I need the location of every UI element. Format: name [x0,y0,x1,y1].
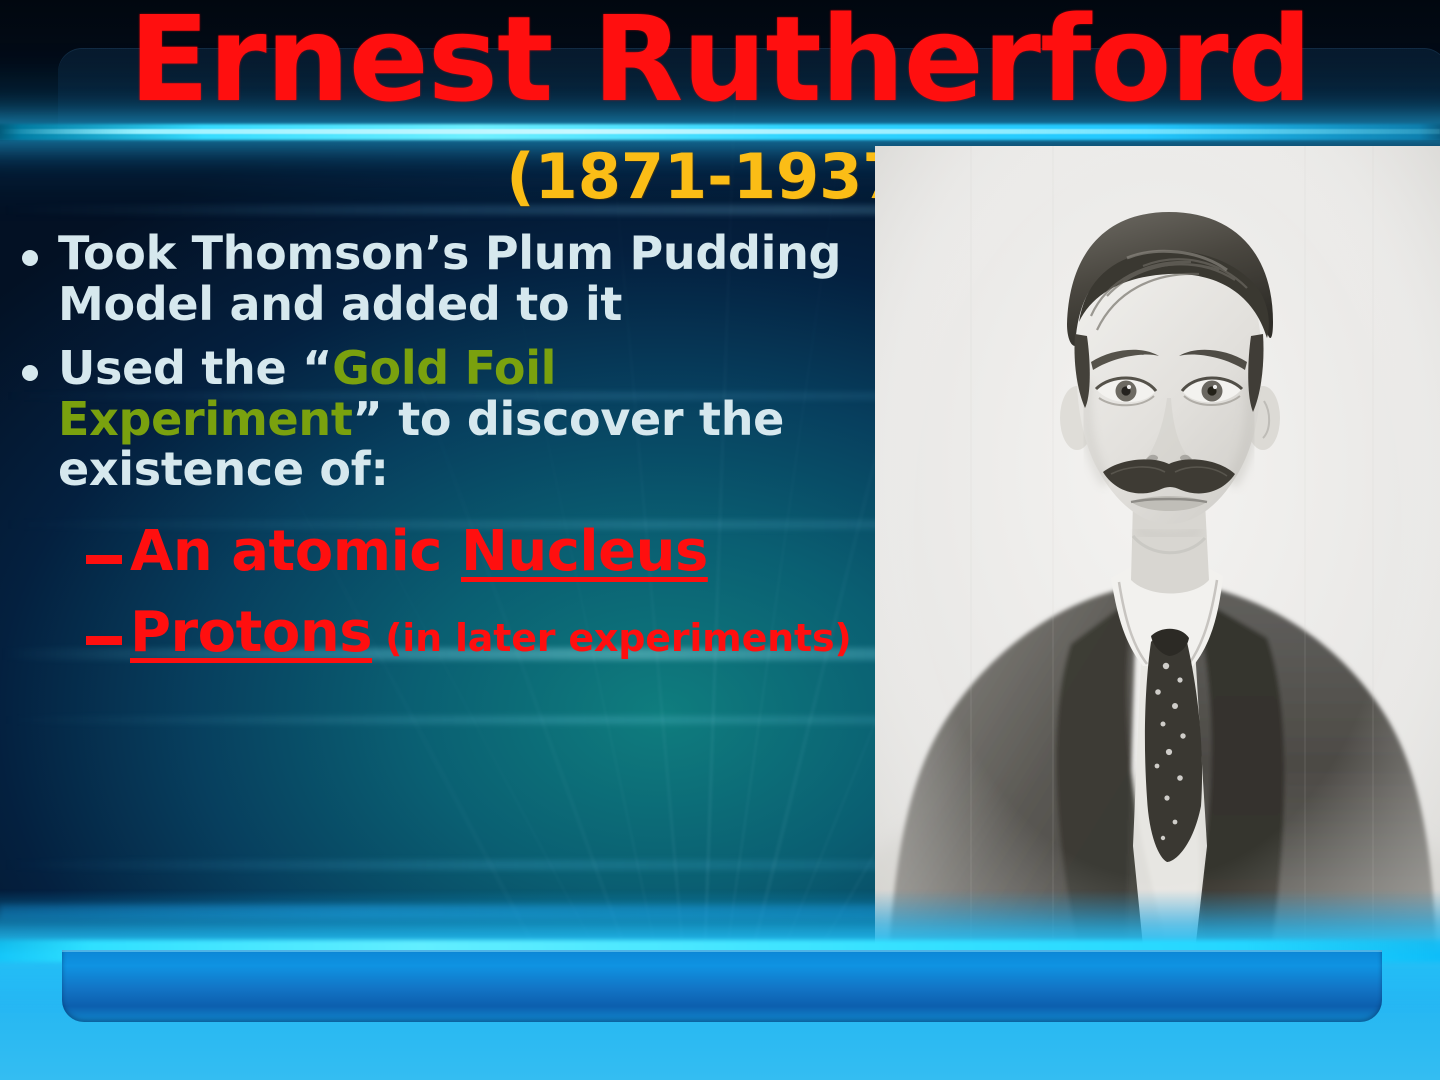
slide-title: Ernest Rutherford [0,0,1440,122]
sub-bullet-underlined-term: Protons [130,600,372,665]
bullet-disc-icon [22,365,38,381]
bullet-dash-icon [86,555,122,564]
bullet-text: Used the “Gold Foil Experiment” to disco… [58,343,868,495]
bullet-text-part: Used the “ [58,341,332,395]
sub-bullet-lead: An atomic [130,519,461,584]
list-item: Used the “Gold Foil Experiment” to disco… [0,343,868,495]
rutherford-portrait-photo [875,146,1440,986]
bullet-list: Took Thomson’s Plum Pudding Model and ad… [0,228,868,670]
decorative-bottom-tray [62,950,1382,1022]
bullet-text: Took Thomson’s Plum Pudding Model and ad… [58,228,868,329]
bullet-disc-icon [22,250,38,266]
bullet-dash-icon [86,636,122,645]
list-item: Took Thomson’s Plum Pudding Model and ad… [0,228,868,329]
decorative-cyan-beam-top-core [0,129,1440,134]
sub-bullet-text: An atomic Nucleus [130,521,868,584]
sub-bullet-note: (in later experiments) [372,616,851,660]
sub-bullet-text: Protons (in later experiments) [130,602,868,665]
sub-list-item: An atomic Nucleus [0,521,868,584]
sub-list-item: Protons (in later experiments) [0,602,868,665]
portrait-illustration [875,146,1440,986]
presentation-slide: Ernest Rutherford (1871-1937) Took Thoms… [0,0,1440,1080]
sub-bullet-underlined-term: Nucleus [461,519,708,584]
